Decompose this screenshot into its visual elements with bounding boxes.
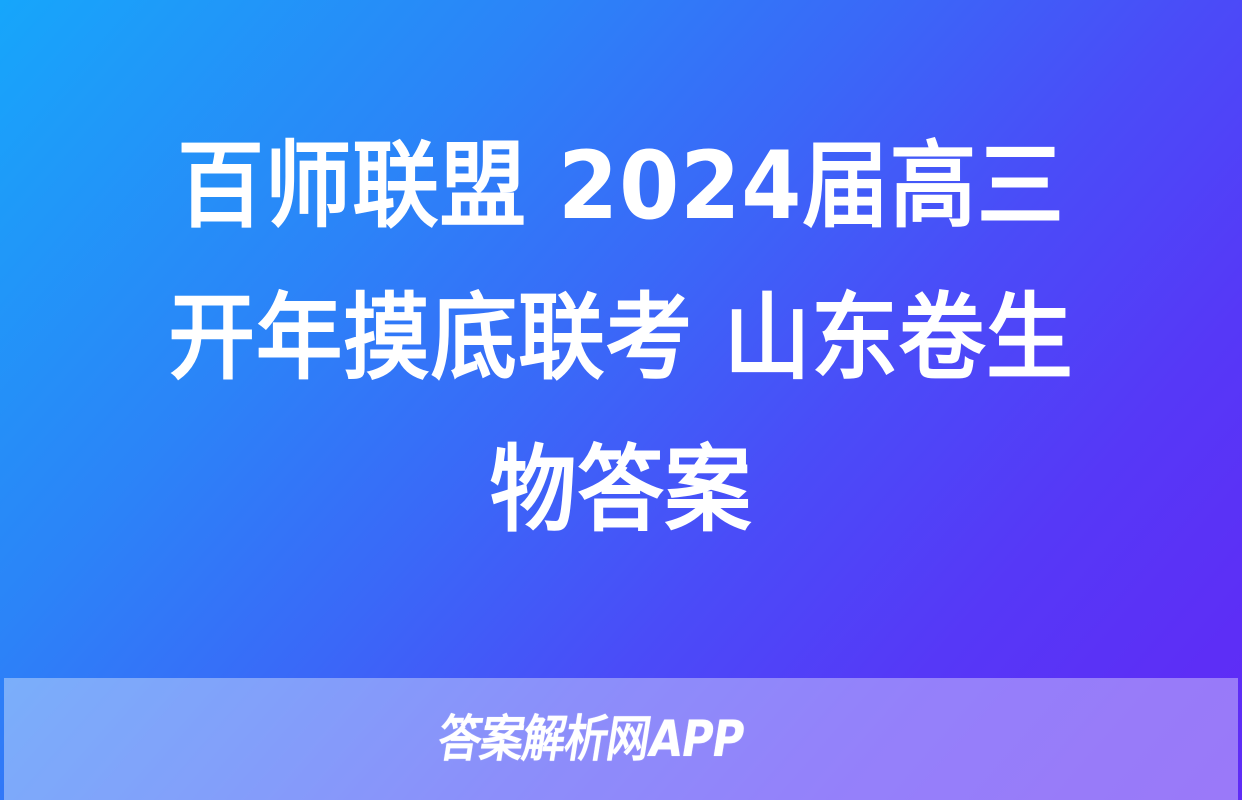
answer-banner: 百师联盟 2024届高三开年摸底联考 山东卷生物答案 答案解析网APP <box>0 0 1242 800</box>
watermark-label: 答案解析网APP <box>435 714 747 764</box>
watermark-band: 答案解析网APP <box>4 678 1238 800</box>
page-title: 百师联盟 2024届高三开年摸底联考 山东卷生物答案 <box>143 111 1100 567</box>
headline-container: 百师联盟 2024届高三开年摸底联考 山东卷生物答案 <box>0 0 1242 678</box>
